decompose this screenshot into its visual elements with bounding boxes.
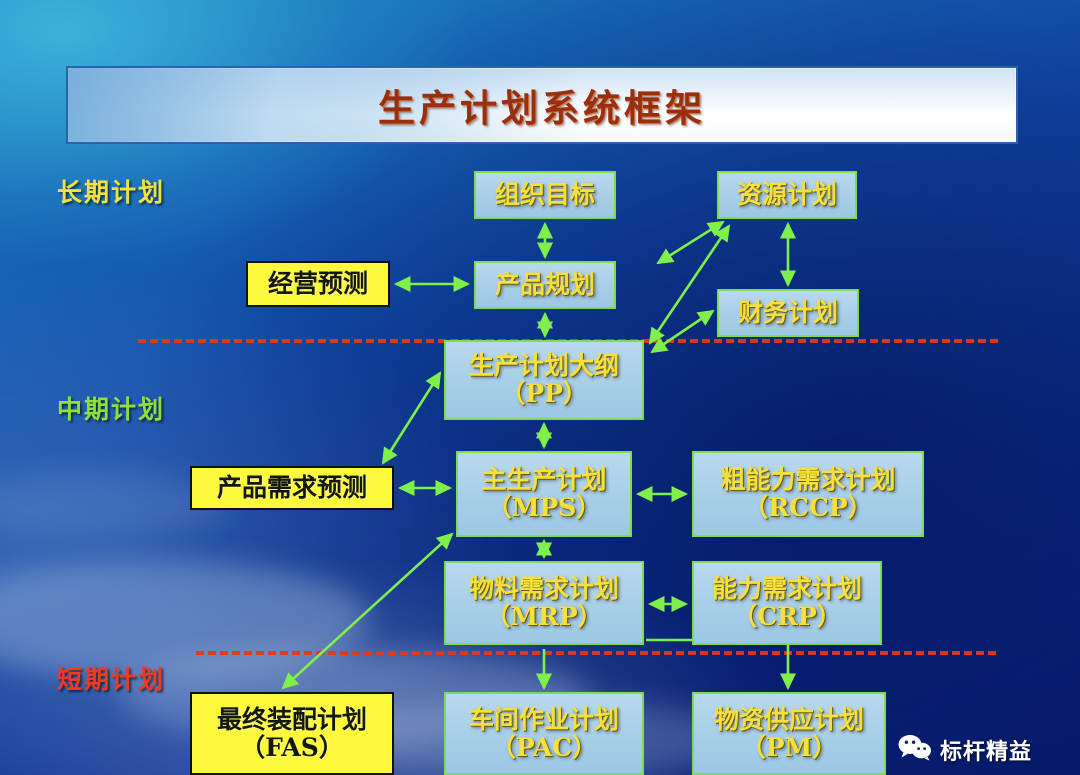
node-line-1: 经营预测 [268, 270, 368, 298]
node-production-plan-pp[interactable]: 生产计划大纲 （PP） [444, 340, 644, 420]
node-line-1: 能力需求计划 [712, 575, 862, 603]
node-line-1: 资源计划 [737, 181, 837, 209]
node-purchasing-material-plan[interactable]: 物资供应计划 （PM） [692, 692, 886, 775]
node-financial-plan[interactable]: 财务计划 [717, 289, 859, 337]
node-line-2: （CRP） [732, 603, 841, 631]
connector-mps-fas [283, 534, 452, 688]
node-line-2: （RCCP） [743, 494, 872, 522]
slide-canvas: 生产计划系统框架 长期计划 中期计划 短期计划 [0, 0, 1080, 775]
connector-pp-fin [652, 311, 713, 352]
node-line-1: 物资供应计划 [714, 706, 864, 734]
node-product-planning[interactable]: 产品规划 [474, 261, 616, 309]
node-final-assembly-schedule[interactable]: 最终装配计划 （FAS） [190, 692, 394, 775]
node-capacity-requirements-plan[interactable]: 能力需求计划 （CRP） [692, 561, 882, 645]
node-organization-goal[interactable]: 组织目标 [474, 171, 616, 219]
node-line-1: 产品规划 [495, 271, 595, 299]
node-line-2: （FAS） [240, 734, 344, 762]
node-line-1: 主生产计划 [481, 466, 606, 494]
node-line-1: 物料需求计划 [469, 575, 619, 603]
watermark: 标杆精益 [898, 733, 1032, 766]
node-business-forecast[interactable]: 经营预测 [246, 261, 390, 307]
node-line-2: （PP） [500, 380, 588, 408]
node-line-1: 产品需求预测 [217, 474, 367, 502]
connector-pp-res-branch [658, 222, 723, 263]
node-line-1: 生产计划大纲 [469, 352, 619, 380]
node-resource-plan[interactable]: 资源计划 [717, 171, 857, 219]
connector-demand-pp [383, 373, 440, 463]
node-rough-cut-capacity-plan[interactable]: 粗能力需求计划 （RCCP） [692, 451, 924, 537]
connector-mrp-pm [646, 640, 788, 688]
node-line-2: （PM） [741, 734, 837, 762]
node-line-1: 粗能力需求计划 [720, 466, 895, 494]
node-material-requirements-plan[interactable]: 物料需求计划 （MRP） [444, 561, 644, 645]
node-line-1: 车间作业计划 [469, 706, 619, 734]
node-line-1: 最终装配计划 [217, 706, 367, 734]
node-production-activity-control[interactable]: 车间作业计划 （PAC） [444, 692, 644, 775]
node-line-2: （PAC） [491, 734, 597, 762]
node-master-production-schedule[interactable]: 主生产计划 （MPS） [456, 451, 632, 537]
node-line-2: （MRP） [485, 603, 602, 631]
node-line-1: 组织目标 [495, 181, 595, 209]
wechat-icon [898, 733, 932, 766]
node-line-2: （MPS） [487, 494, 602, 522]
watermark-label: 标杆精益 [940, 734, 1032, 766]
node-line-1: 财务计划 [738, 299, 838, 327]
node-product-demand-forecast[interactable]: 产品需求预测 [190, 466, 394, 510]
